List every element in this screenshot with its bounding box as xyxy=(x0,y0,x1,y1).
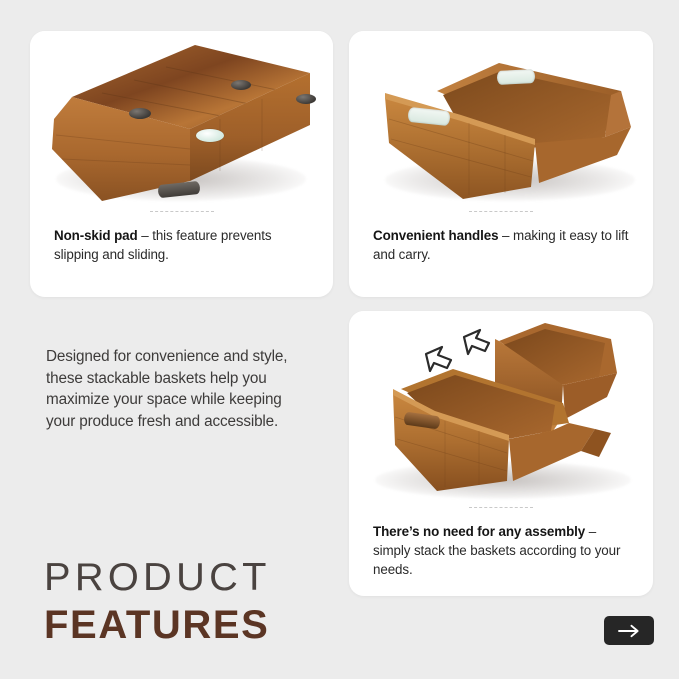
intro-paragraph: Designed for convenience and style, thes… xyxy=(46,346,314,432)
feature-caption-no-assembly: There’s no need for any assembly – simpl… xyxy=(349,508,653,579)
feature-headline: Non-skid pad xyxy=(54,228,138,243)
feature-dash: – xyxy=(498,228,513,243)
feature-dash: – xyxy=(585,524,596,539)
product-photo-non-skid-pad xyxy=(30,31,333,205)
infographic-stage: Non-skid pad – this feature prevents sli… xyxy=(0,0,679,679)
feature-card-no-assembly[interactable]: There’s no need for any assembly – simpl… xyxy=(349,311,653,596)
arrow-right-icon xyxy=(618,624,640,638)
product-photo-no-assembly xyxy=(349,311,653,501)
feature-card-convenient-handles[interactable]: Convenient handles – making it easy to l… xyxy=(349,31,653,297)
feature-headline: Convenient handles xyxy=(373,228,498,243)
feature-card-non-skid-pad[interactable]: Non-skid pad – this feature prevents sli… xyxy=(30,31,333,297)
feature-dash: – xyxy=(138,228,153,243)
next-button[interactable] xyxy=(604,616,654,645)
stack-arrow-icon-left xyxy=(426,347,451,371)
basket-handle-back xyxy=(497,69,536,85)
title-line-product: PRODUCT xyxy=(44,556,274,600)
non-skid-pad-back xyxy=(231,80,251,90)
non-skid-pad-highlight xyxy=(196,129,224,142)
feature-caption-non-skid-pad: Non-skid pad – this feature prevents sli… xyxy=(30,212,333,264)
title-line-features: FEATURES xyxy=(44,602,269,648)
product-photo-convenient-handles xyxy=(349,31,653,205)
page-title: PRODUCT FEATURES xyxy=(44,556,269,648)
stack-arrow-icon-right xyxy=(464,330,489,354)
feature-headline: There’s no need for any assembly xyxy=(373,524,585,539)
non-skid-pad-front xyxy=(129,108,151,119)
feature-caption-convenient-handles: Convenient handles – making it easy to l… xyxy=(349,212,653,264)
feature-body: simply stack the baskets according to yo… xyxy=(373,543,620,577)
non-skid-pad-right xyxy=(296,94,316,104)
